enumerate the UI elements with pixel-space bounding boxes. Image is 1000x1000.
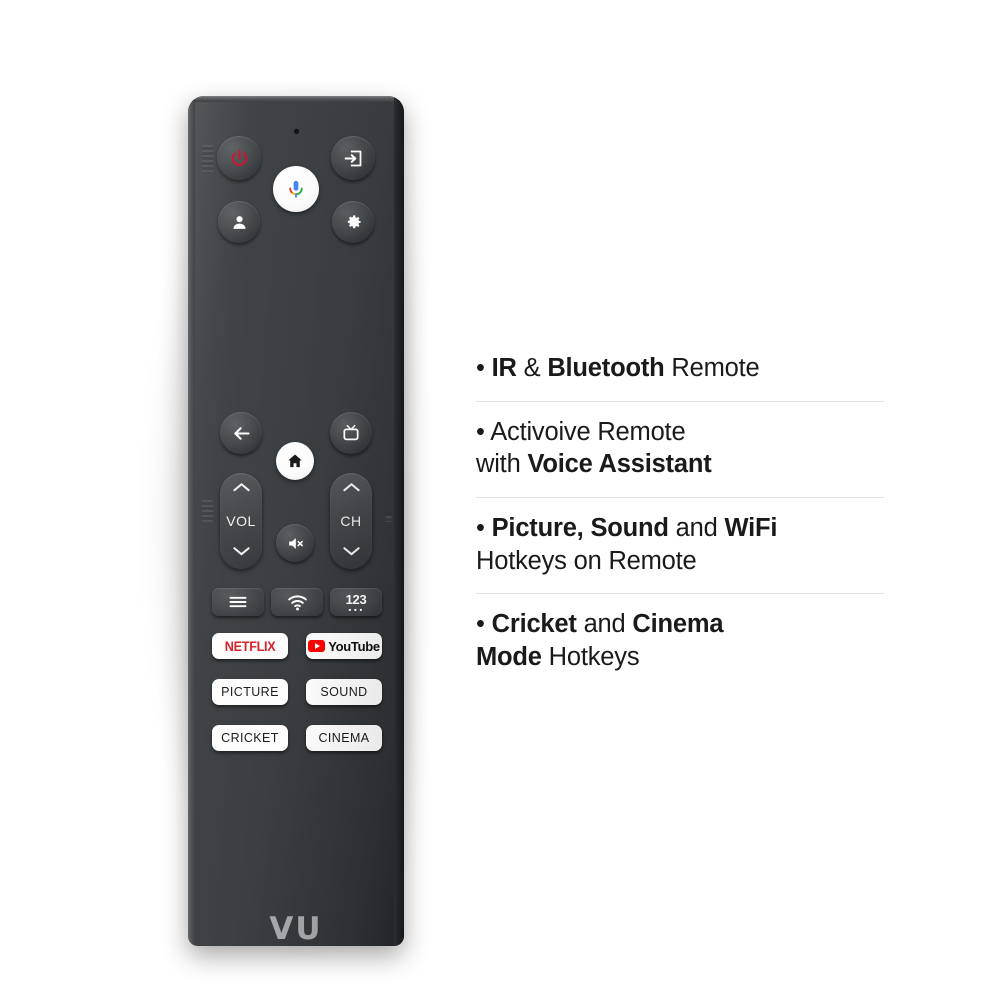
feature-plain: with <box>476 450 527 478</box>
bullet-icon: • <box>476 610 492 638</box>
wifi-icon <box>287 594 308 611</box>
menu-button[interactable] <box>212 588 264 616</box>
channel-up-button[interactable] <box>342 480 361 498</box>
feature-item: • Activoive Remotewith Voice Assistant <box>476 402 906 497</box>
feature-emphasis: WiFi <box>724 514 777 542</box>
feature-emphasis: Mode <box>476 643 542 671</box>
mute-button[interactable] <box>276 524 314 562</box>
person-icon <box>230 213 249 232</box>
feature-plain: and <box>577 610 633 638</box>
brand-logo: VU CALIFORNIA <box>188 911 404 946</box>
channel-rocker[interactable]: CH <box>330 473 372 569</box>
input-source-icon <box>343 148 364 169</box>
feature-plain: & <box>517 354 548 382</box>
gear-icon <box>344 213 363 232</box>
cinema-label: CINEMA <box>318 731 369 745</box>
numeric-keypad-dots: ■ ■ ■ <box>349 608 363 612</box>
feature-emphasis: Picture, Sound <box>492 514 669 542</box>
netflix-label: NETFLIX <box>225 638 276 654</box>
cricket-label: CRICKET <box>221 731 279 745</box>
netflix-hotkey[interactable]: NETFLIX <box>212 633 288 659</box>
feature-plain: and <box>669 514 725 542</box>
sound-hotkey[interactable]: SOUND <box>306 679 382 705</box>
feature-plain: Hotkeys <box>542 643 640 671</box>
sound-label: SOUND <box>320 685 367 699</box>
side-texture-ridges <box>202 145 213 173</box>
power-button[interactable] <box>217 136 261 180</box>
side-texture-ridges-mid <box>202 500 213 522</box>
feature-text: • Activoive Remotewith Voice Assistant <box>476 416 906 481</box>
side-texture-ridges-right <box>385 516 392 522</box>
wifi-button[interactable] <box>271 588 323 616</box>
feature-emphasis: Bluetooth <box>547 354 664 382</box>
youtube-label: YouTube <box>328 639 380 654</box>
tv-remote-control: OK <box>188 96 404 946</box>
home-button[interactable] <box>276 442 314 480</box>
source-button[interactable] <box>331 136 375 180</box>
power-icon <box>229 148 250 169</box>
feature-text: • IR & Bluetooth Remote <box>476 352 906 385</box>
numeric-keypad-label: 123 <box>346 593 367 606</box>
remote-left-bevel <box>188 96 195 946</box>
arrow-left-icon <box>231 423 252 444</box>
cricket-hotkey[interactable]: CRICKET <box>212 725 288 751</box>
remote-top-edge <box>188 96 404 102</box>
feature-text: • Picture, Sound and WiFiHotkeys on Remo… <box>476 512 906 577</box>
feature-plain: Hotkeys on Remote <box>476 547 697 575</box>
feature-emphasis: Cinema <box>632 610 723 638</box>
feature-plain: Remote <box>664 354 759 382</box>
youtube-hotkey[interactable]: YouTube <box>306 633 382 659</box>
tv-icon <box>341 423 361 443</box>
volume-down-button[interactable] <box>232 544 251 562</box>
remote-right-bevel <box>394 96 404 946</box>
chevron-up-icon <box>232 481 251 493</box>
feature-emphasis: Cricket <box>492 610 577 638</box>
picture-hotkey[interactable]: PICTURE <box>212 679 288 705</box>
chevron-up-icon <box>342 481 361 493</box>
chevron-down-icon <box>232 545 251 557</box>
profile-button[interactable] <box>218 201 260 243</box>
home-icon <box>286 452 304 470</box>
google-assistant-button[interactable] <box>273 166 319 212</box>
channel-label: CH <box>340 513 361 529</box>
feature-emphasis: IR <box>492 354 517 382</box>
picture-label: PICTURE <box>221 685 279 699</box>
live-tv-button[interactable] <box>330 412 372 454</box>
numeric-keypad-button[interactable]: 123 ■ ■ ■ <box>330 588 382 616</box>
feature-item: • Cricket and CinemaMode Hotkeys <box>476 594 906 689</box>
back-button[interactable] <box>220 412 262 454</box>
chevron-down-icon <box>342 545 361 557</box>
microphone-icon <box>285 178 307 200</box>
volume-up-button[interactable] <box>232 480 251 498</box>
volume-label: VOL <box>226 513 256 529</box>
feature-item: • Picture, Sound and WiFiHotkeys on Remo… <box>476 498 906 593</box>
feature-text: • Cricket and CinemaMode Hotkeys <box>476 608 906 673</box>
feature-plain: Activoive Remote <box>490 418 685 446</box>
youtube-play-icon <box>308 640 325 652</box>
ir-led-dot <box>294 129 299 134</box>
hamburger-menu-icon <box>228 595 248 609</box>
feature-emphasis: Voice Assistant <box>527 450 711 478</box>
vu-wordmark: VU <box>188 911 404 946</box>
mute-speaker-icon <box>286 534 305 553</box>
bullet-icon: • <box>476 418 490 446</box>
bullet-icon: • <box>476 514 492 542</box>
volume-rocker[interactable]: VOL <box>220 473 262 569</box>
feature-list: • IR & Bluetooth Remote• Activoive Remot… <box>476 338 906 689</box>
product-image-canvas: OK <box>0 0 1000 1000</box>
channel-down-button[interactable] <box>342 544 361 562</box>
youtube-logo: YouTube <box>308 639 380 654</box>
bullet-icon: • <box>476 354 492 382</box>
feature-item: • IR & Bluetooth Remote <box>476 338 906 401</box>
settings-button[interactable] <box>332 201 374 243</box>
cinema-hotkey[interactable]: CINEMA <box>306 725 382 751</box>
